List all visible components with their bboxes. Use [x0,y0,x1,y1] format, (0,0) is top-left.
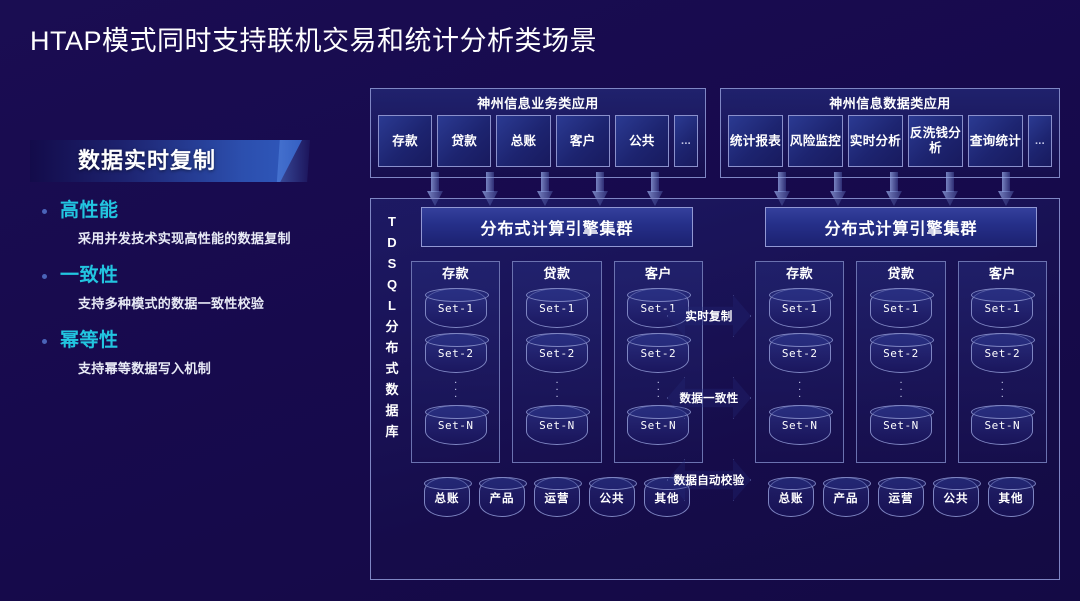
bottom-cylinder[interactable]: 其他 [988,477,1034,517]
bottom-cylinder[interactable]: 产品 [823,477,869,517]
bottom-cylinder[interactable]: 总账 [424,477,470,517]
set-label: Set-1 [770,302,830,315]
compute-engine-cluster: 分布式计算引擎集群 [765,207,1037,247]
set-column-title: 贷款 [543,265,570,283]
app-item[interactable]: 反洗钱分析 [908,115,963,167]
app-item-more[interactable]: ... [1028,115,1052,167]
set-column: 贷款 Set-1 Set-2 ... Set-N [512,261,601,463]
app-group-title: 神州信息数据类应用 [728,93,1052,115]
feature-description: 支持多种模式的数据一致性校验 [78,293,350,312]
slide-root: HTAP模式同时支持联机交易和统计分析类场景 数据实时复制 高性能 采用并发技术… [0,0,1080,601]
sync-arrow-label: 实时复制 [667,295,751,337]
tdsql-label-char: T [381,211,403,232]
app-item[interactable]: 实时分析 [848,115,903,167]
vertical-ellipsis-icon: ... [798,377,801,398]
set-label: Set-1 [972,302,1032,315]
set-cylinder[interactable]: Set-2 [971,333,1033,373]
set-label: Set-N [628,419,688,432]
set-column-title: 存款 [786,265,813,283]
set-column: 客户 Set-1 Set-2 ... Set-N [958,261,1047,463]
app-item[interactable]: 客户 [556,115,610,167]
sync-arrow-data-consistency: 数据一致性 [667,377,751,419]
vertical-ellipsis-icon: ... [555,377,558,398]
app-group-title: 神州信息业务类应用 [378,93,698,115]
set-cylinder[interactable]: Set-1 [425,288,487,328]
set-cylinder[interactable]: Set-1 [971,288,1033,328]
tdsql-label-char: D [381,232,403,253]
compute-engine-cluster: 分布式计算引擎集群 [421,207,693,247]
set-cylinder[interactable]: Set-1 [526,288,588,328]
set-label: Set-2 [972,347,1032,360]
bottom-cylinder-list: 总账 产品 运营 公共 其他 [755,477,1047,517]
feature-title: 高性能 [60,198,350,224]
tdsql-label-char: 库 [381,421,403,442]
set-label: Set-2 [527,347,587,360]
banner-edge-accent [274,140,310,182]
set-cylinder[interactable]: Set-2 [769,333,831,373]
set-cylinder[interactable]: Set-N [971,405,1033,445]
set-cylinder[interactable]: Set-1 [870,288,932,328]
vertical-ellipsis-icon: ... [454,377,457,398]
set-label: Set-2 [426,347,486,360]
set-label: Set-2 [628,347,688,360]
vertical-ellipsis-icon: ... [657,377,660,398]
architecture-diagram: 神州信息业务类应用 存款 贷款 总账 客户 公共 ... 神州信息数据类应用 统… [370,88,1060,580]
set-cylinder[interactable]: Set-N [769,405,831,445]
feature-item: 高性能 采用并发技术实现高性能的数据复制 [30,198,350,247]
tdsql-label-char: 分 [381,316,403,337]
set-cylinder[interactable]: Set-2 [627,333,689,373]
bullet-icon [42,339,47,344]
feature-title: 一致性 [60,263,350,289]
set-label: Set-N [770,419,830,432]
app-group-data: 神州信息数据类应用 统计报表 风险监控 实时分析 反洗钱分析 查询统计 ... [720,88,1060,178]
tdsql-label-char: S [381,253,403,274]
feature-item: 一致性 支持多种模式的数据一致性校验 [30,263,350,312]
feature-title: 幂等性 [60,328,350,354]
set-label: Set-N [527,419,587,432]
bottom-cylinder-label: 产品 [824,490,868,506]
set-column: 贷款 Set-1 Set-2 ... Set-N [856,261,945,463]
bottom-cylinder[interactable]: 运营 [878,477,924,517]
bottom-cylinder-label: 总账 [425,490,469,506]
app-item[interactable]: 贷款 [437,115,491,167]
vertical-ellipsis-icon: ... [1001,377,1004,398]
sync-arrow-label: 数据一致性 [667,377,751,419]
tdsql-label-char: Q [381,274,403,295]
set-column-title: 客户 [989,265,1016,283]
app-item[interactable]: 查询统计 [968,115,1023,167]
set-column-list: 存款 Set-1 Set-2 ... Set-N 贷款 Set-1 Set-2 … [411,261,703,463]
tdsql-label-char: L [381,295,403,316]
tdsql-label-char: 据 [381,400,403,421]
set-label: Set-1 [527,302,587,315]
bottom-cylinder-label: 产品 [480,490,524,506]
app-item[interactable]: 风险监控 [788,115,843,167]
tdsql-half-oltp: 分布式计算引擎集群 存款 Set-1 Set-2 ... Set-N 贷款 Se… [411,207,703,573]
sync-arrow-label: 数据自动校验 [667,459,751,501]
vertical-ellipsis-icon: ... [899,377,902,398]
bottom-cylinder-label: 其他 [989,490,1033,506]
tdsql-label-char: 数 [381,379,403,400]
set-column: 存款 Set-1 Set-2 ... Set-N [411,261,500,463]
tdsql-vertical-label: T D S Q L 分 布 式 数 据 库 [381,211,403,442]
bottom-cylinder[interactable]: 总账 [768,477,814,517]
bottom-cylinder-label: 公共 [590,490,634,506]
app-group-business: 神州信息业务类应用 存款 贷款 总账 客户 公共 ... [370,88,706,178]
page-title: HTAP模式同时支持联机交易和统计分析类场景 [30,19,597,58]
bottom-cylinder-label: 运营 [879,490,923,506]
sync-arrow-auto-verification: 数据自动校验 [667,459,751,501]
feature-description: 采用并发技术实现高性能的数据复制 [78,228,350,247]
app-item[interactable]: 公共 [615,115,669,167]
sync-arrow-realtime-replication: 实时复制 [667,295,751,337]
set-cylinder[interactable]: Set-N [870,405,932,445]
set-label: Set-1 [871,302,931,315]
set-label: Set-2 [770,347,830,360]
bullet-icon [42,209,47,214]
set-column: 存款 Set-1 Set-2 ... Set-N [755,261,844,463]
set-column-list: 存款 Set-1 Set-2 ... Set-N 贷款 Set-1 Set-2 … [755,261,1047,463]
set-label: Set-N [972,419,1032,432]
bottom-cylinder[interactable]: 产品 [479,477,525,517]
feature-item: 幂等性 支持幂等数据写入机制 [30,328,350,377]
tdsql-label-char: 布 [381,337,403,358]
section-banner: 数据实时复制 [30,140,302,182]
bottom-cylinder-list: 总账 产品 运营 公共 其他 [411,477,703,517]
tdsql-panel: T D S Q L 分 布 式 数 据 库 分布式计算引擎集群 存款 Set-1 [370,198,1060,580]
bottom-cylinder-label: 运营 [535,490,579,506]
tdsql-half-olap: 分布式计算引擎集群 存款 Set-1 Set-2 ... Set-N 贷款 Se… [755,207,1047,573]
left-panel: 数据实时复制 高性能 采用并发技术实现高性能的数据复制 一致性 支持多种模式的数… [30,140,350,377]
app-item[interactable]: 总账 [496,115,550,167]
tdsql-label-char: 式 [381,358,403,379]
bottom-cylinder[interactable]: 运营 [534,477,580,517]
set-label: Set-N [426,419,486,432]
set-cylinder[interactable]: Set-2 [526,333,588,373]
app-item-list: 存款 贷款 总账 客户 公共 ... [378,115,698,167]
bottom-cylinder-label: 总账 [769,490,813,506]
set-column-title: 存款 [442,265,469,283]
set-cylinder[interactable]: Set-N [425,405,487,445]
feature-description: 支持幂等数据写入机制 [78,358,350,377]
app-item-more[interactable]: ... [674,115,698,167]
bottom-cylinder[interactable]: 公共 [933,477,979,517]
set-column-title: 贷款 [887,265,914,283]
set-label: Set-2 [871,347,931,360]
set-cylinder[interactable]: Set-2 [425,333,487,373]
set-cylinder[interactable]: Set-2 [870,333,932,373]
set-cylinder[interactable]: Set-N [526,405,588,445]
set-label: Set-1 [426,302,486,315]
bullet-icon [42,274,47,279]
app-item-list: 统计报表 风险监控 实时分析 反洗钱分析 查询统计 ... [728,115,1052,167]
set-cylinder[interactable]: Set-1 [769,288,831,328]
bottom-cylinder[interactable]: 公共 [589,477,635,517]
banner-label: 数据实时复制 [78,140,216,182]
app-item[interactable]: 存款 [378,115,432,167]
set-label: Set-N [871,419,931,432]
set-column: 客户 Set-1 Set-2 ... Set-N [614,261,703,463]
app-item[interactable]: 统计报表 [728,115,783,167]
bottom-cylinder-label: 公共 [934,490,978,506]
set-column-title: 客户 [645,265,672,283]
